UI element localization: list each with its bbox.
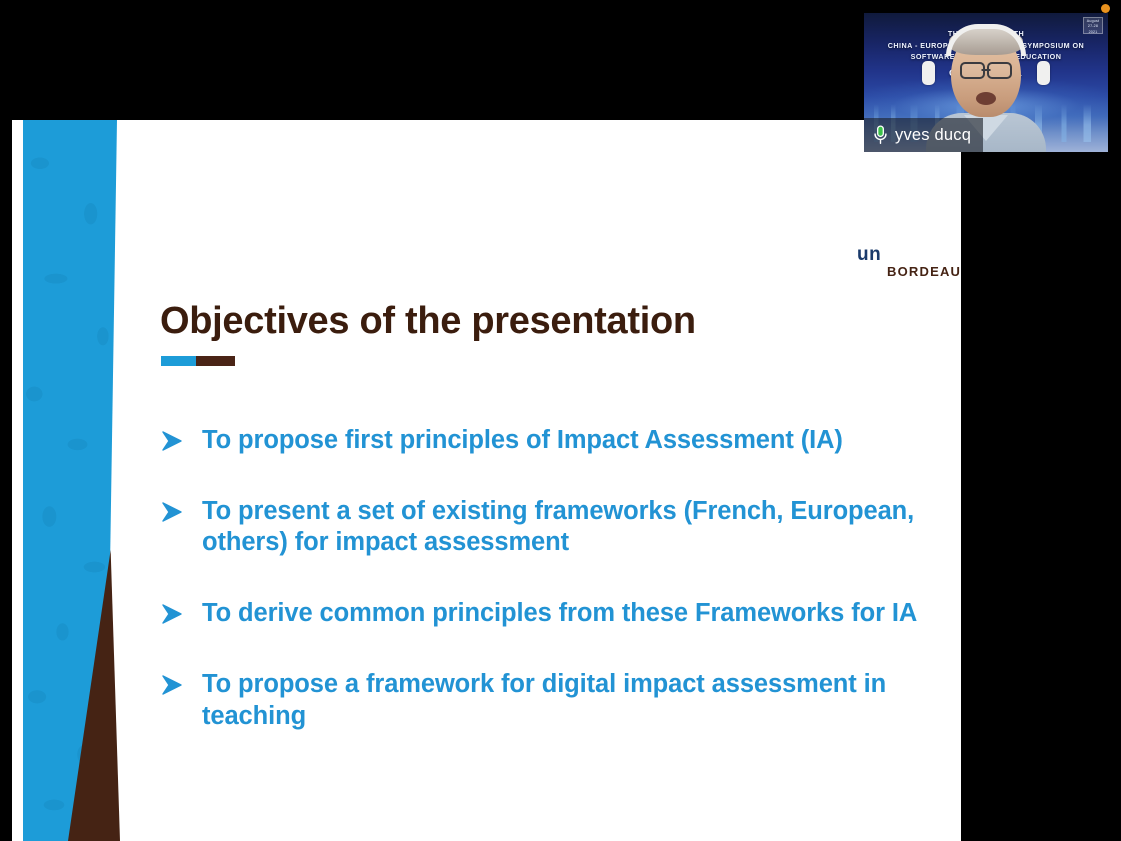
shared-presentation-slide[interactable]: 5 Objectives of the presentation To prop… (12, 120, 961, 841)
participant-video-tile[interactable]: August 27-28 2021 THE SEVENTEENTH CHINA … (864, 13, 1108, 152)
arrow-bullet-icon (160, 496, 202, 527)
screen-share-window: 5 Objectives of the presentation To prop… (0, 0, 1121, 841)
participant-name-badge: yves ducq (864, 118, 983, 152)
university-logo-text: un (857, 244, 881, 266)
microphone-icon[interactable] (873, 125, 888, 145)
university-logo-subtext: BORDEAUX (887, 264, 961, 279)
slide-title: Objectives of the presentation (160, 300, 696, 343)
slide-bullet-list: To propose first principles of Impact As… (160, 425, 920, 772)
participant-name-label: yves ducq (895, 126, 971, 145)
arrow-bullet-icon (160, 669, 202, 700)
arrow-bullet-icon (160, 425, 202, 456)
bullet-text: To propose a framework for digital impac… (202, 669, 920, 731)
bullet-text: To present a set of existing frameworks … (202, 496, 920, 558)
list-item: To propose first principles of Impact As… (160, 425, 920, 456)
bullet-text: To propose first principles of Impact As… (202, 425, 843, 456)
recording-indicator-icon (1101, 4, 1110, 13)
arrow-bullet-icon (160, 598, 202, 629)
bullet-text: To derive common principles from these F… (202, 598, 917, 629)
list-item: To derive common principles from these F… (160, 598, 920, 629)
title-underline-brown (196, 356, 235, 366)
list-item: To present a set of existing frameworks … (160, 496, 920, 558)
list-item: To propose a framework for digital impac… (160, 669, 920, 731)
